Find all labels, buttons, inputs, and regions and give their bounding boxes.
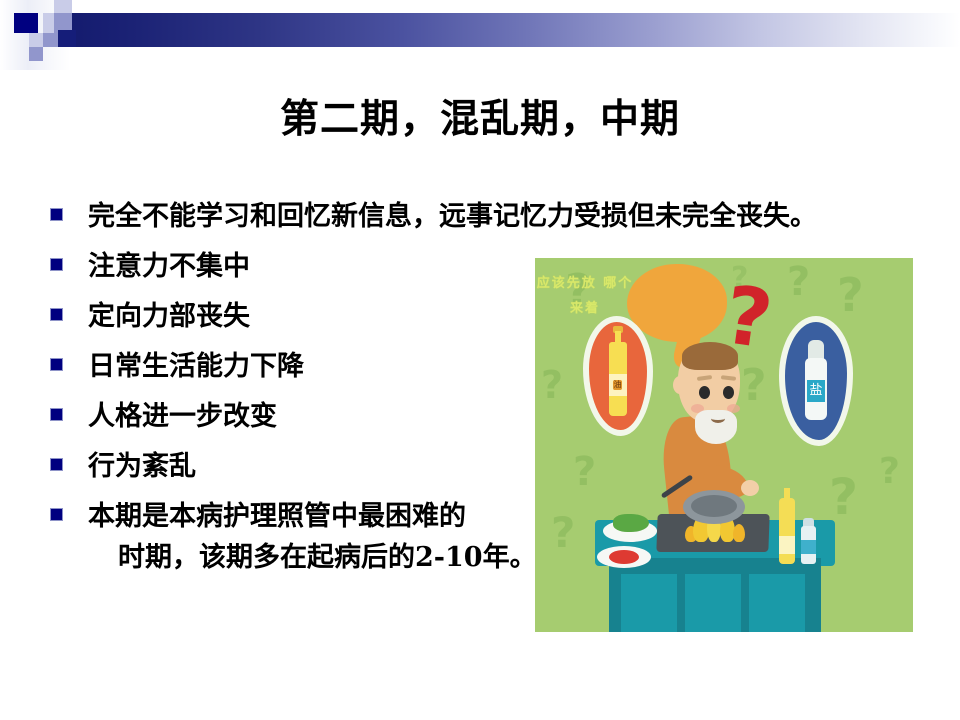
square-bullet-icon [50,308,63,321]
bullet-text: 行为紊乱 [88,446,196,487]
bullet-text-line2: 时期，该期多在起病后的2-10年。 [88,537,537,578]
header-square-deep [58,30,76,47]
man-eye-left [699,386,710,399]
counter-panel [685,574,741,632]
question-mark-icon: ? [879,454,900,490]
bullet-text: 注意力不集中 [88,246,250,287]
flame-icon [733,524,745,542]
bullet-text: 完全不能学习和回忆新信息，远事记忆力受损但未完全丧失。 [88,196,817,237]
oil-label-text: 油 [613,380,622,390]
salt-bottle-cap-icon [808,340,824,360]
square-bullet-icon [50,208,63,221]
square-bullet-icon [50,408,63,421]
cooking-illustration-image: ? ? ? ? ? ? ? ? ? ? 应该先放 哪个来着 ? 油 盐 [535,258,913,632]
slide-canvas: 第二期，混乱期，中期 完全不能学习和回忆新信息，远事记忆力受损但未完全丧失。 注… [0,0,960,720]
question-mark-icon: ? [829,472,858,522]
square-bullet-icon [50,358,63,371]
bullet-text: 日常生活能力下降 [88,346,304,387]
vegetables-icon [613,514,649,532]
square-bullet-icon [50,458,63,471]
list-item: 完全不能学习和回忆新信息，远事记忆力受损但未完全丧失。 [50,196,930,237]
question-mark-icon: ? [541,366,563,404]
header-square-light-top [54,0,72,13]
salt-label-text: 盐 [807,380,825,402]
question-mark-icon: ? [787,262,810,302]
header-square-mid-bottom [29,47,43,61]
question-mark-icon: ? [573,452,596,492]
speech-bubble-text: 应该先放 哪个来着 [535,272,635,321]
question-mark-icon: ? [741,364,767,408]
man-hand [741,480,759,496]
counter-panel [621,574,677,632]
frying-pan-inner [691,495,737,517]
tomato-icon [609,550,639,564]
thought-cloud-salt: 盐 [779,316,853,446]
question-mark-icon: ? [551,512,575,554]
square-bullet-icon [50,258,63,271]
counter-salt-bottle-label [801,540,816,554]
counter-oil-bottle-icon [779,498,795,564]
square-bullet-icon [50,508,63,521]
bullet-text: 人格进一步改变 [88,396,277,437]
counter-panel [749,574,805,632]
man-eye-right [723,386,734,399]
bullet-text-line1: 本期是本病护理照管中最困难的 [88,501,466,532]
bullet-text: 定向力部丧失 [88,296,250,337]
bullet-text-multiline: 本期是本病护理照管中最困难的时期，该期多在起病后的2-10年。 [88,496,537,578]
header-square-navy [14,13,38,33]
man-hair [682,342,738,370]
man-mouth [711,414,725,423]
counter-oil-bottle-label [779,536,795,554]
header-gradient-bar [60,13,960,47]
question-mark-icon: ? [837,272,864,318]
page-title: 第二期，混乱期，中期 [0,98,960,142]
thought-cloud-oil: 油 [583,316,653,436]
header-decoration [0,0,960,70]
speech-bubble [627,264,727,342]
